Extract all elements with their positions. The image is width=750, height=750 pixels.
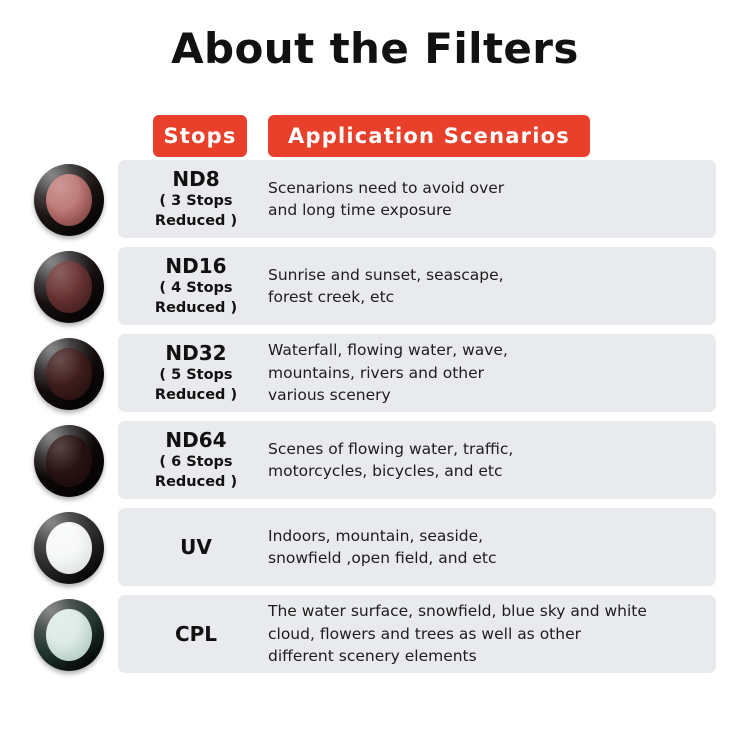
scenario-line-2: snowfield ,open field, and etc bbox=[268, 547, 497, 569]
scenario-line-2: cloud, flowers and trees as well as othe… bbox=[268, 623, 647, 645]
stops-detail-line-1: ( 6 Stops bbox=[159, 453, 232, 471]
stops-detail-line-2: Reduced ) bbox=[155, 386, 237, 404]
stops-cell: ND32( 5 StopsReduced ) bbox=[126, 334, 266, 412]
nd32-filter-icon bbox=[34, 338, 104, 410]
column-header-stops: Stops bbox=[153, 115, 247, 157]
stops-detail-line-2: Reduced ) bbox=[155, 212, 237, 230]
scenario-cell: Scenes of flowing water, traffic,motorcy… bbox=[268, 421, 708, 499]
scenario-text: Waterfall, flowing water, wave,mountains… bbox=[268, 339, 508, 406]
filter-name: ND64 bbox=[165, 429, 226, 452]
filter-thumbnail bbox=[32, 338, 106, 410]
scenario-line-1: Scenarions need to avoid over bbox=[268, 177, 504, 199]
scenario-line-1: The water surface, snowfield, blue sky a… bbox=[268, 600, 647, 622]
scenario-cell: Scenarions need to avoid overand long ti… bbox=[268, 160, 708, 238]
table-row: UVIndoors, mountain, seaside,snowfield ,… bbox=[0, 508, 750, 586]
filter-glass bbox=[46, 435, 92, 487]
filter-thumbnail bbox=[32, 599, 106, 671]
scenario-cell: Indoors, mountain, seaside,snowfield ,op… bbox=[268, 508, 708, 586]
stops-detail-line-1: ( 4 Stops bbox=[159, 279, 232, 297]
nd64-filter-icon bbox=[34, 425, 104, 497]
stops-cell: ND8( 3 StopsReduced ) bbox=[126, 160, 266, 238]
filter-name: ND8 bbox=[172, 168, 219, 191]
table-row: ND16( 4 StopsReduced )Sunrise and sunset… bbox=[0, 247, 750, 325]
filter-name: UV bbox=[180, 536, 212, 559]
cpl-filter-icon bbox=[34, 599, 104, 671]
scenario-line-3: various scenery bbox=[268, 384, 508, 406]
page-title: About the Filters bbox=[0, 26, 750, 72]
filter-name: ND16 bbox=[165, 255, 226, 278]
filter-glass bbox=[46, 609, 92, 661]
stops-detail-line-1: ( 3 Stops bbox=[159, 192, 232, 210]
table-row: ND64( 6 StopsReduced )Scenes of flowing … bbox=[0, 421, 750, 499]
scenario-line-2: mountains, rivers and other bbox=[268, 362, 508, 384]
stops-detail-line-1: ( 5 Stops bbox=[159, 366, 232, 384]
scenario-line-2: forest creek, etc bbox=[268, 286, 504, 308]
stops-cell: ND64( 6 StopsReduced ) bbox=[126, 421, 266, 499]
stops-cell: UV bbox=[126, 508, 266, 586]
filter-glass bbox=[46, 522, 92, 574]
filter-name: ND32 bbox=[165, 342, 226, 365]
nd16-filter-icon bbox=[34, 251, 104, 323]
scenario-line-3: different scenery elements bbox=[268, 645, 647, 667]
filter-name: CPL bbox=[175, 623, 217, 646]
table-row: ND8( 3 StopsReduced )Scenarions need to … bbox=[0, 160, 750, 238]
scenario-text: Scenes of flowing water, traffic,motorcy… bbox=[268, 438, 513, 483]
scenario-text: Sunrise and sunset, seascape,forest cree… bbox=[268, 264, 504, 309]
scenario-text: The water surface, snowfield, blue sky a… bbox=[268, 600, 647, 667]
filter-thumbnail bbox=[32, 425, 106, 497]
scenario-line-1: Waterfall, flowing water, wave, bbox=[268, 339, 508, 361]
stops-detail-line-2: Reduced ) bbox=[155, 299, 237, 317]
filter-glass bbox=[46, 348, 92, 400]
scenario-line-2: and long time exposure bbox=[268, 199, 504, 221]
table-header-row: Stops Application Scenarios bbox=[0, 115, 750, 157]
scenario-text: Scenarions need to avoid overand long ti… bbox=[268, 177, 504, 222]
uv-filter-icon bbox=[34, 512, 104, 584]
column-header-application-scenarios: Application Scenarios bbox=[268, 115, 590, 157]
scenario-line-1: Indoors, mountain, seaside, bbox=[268, 525, 497, 547]
scenario-line-1: Sunrise and sunset, seascape, bbox=[268, 264, 504, 286]
filter-glass bbox=[46, 174, 92, 226]
filter-thumbnail bbox=[32, 512, 106, 584]
filter-thumbnail bbox=[32, 251, 106, 323]
stops-cell: ND16( 4 StopsReduced ) bbox=[126, 247, 266, 325]
scenario-line-1: Scenes of flowing water, traffic, bbox=[268, 438, 513, 460]
nd8-filter-icon bbox=[34, 164, 104, 236]
stops-detail-line-2: Reduced ) bbox=[155, 473, 237, 491]
filters-table: ND8( 3 StopsReduced )Scenarions need to … bbox=[0, 160, 750, 682]
table-row: CPLThe water surface, snowfield, blue sk… bbox=[0, 595, 750, 673]
stops-cell: CPL bbox=[126, 595, 266, 673]
filter-glass bbox=[46, 261, 92, 313]
scenario-line-2: motorcycles, bicycles, and etc bbox=[268, 460, 513, 482]
scenario-text: Indoors, mountain, seaside,snowfield ,op… bbox=[268, 525, 497, 570]
filter-thumbnail bbox=[32, 164, 106, 236]
scenario-cell: Sunrise and sunset, seascape,forest cree… bbox=[268, 247, 708, 325]
table-row: ND32( 5 StopsReduced )Waterfall, flowing… bbox=[0, 334, 750, 412]
scenario-cell: The water surface, snowfield, blue sky a… bbox=[268, 595, 708, 673]
scenario-cell: Waterfall, flowing water, wave,mountains… bbox=[268, 334, 708, 412]
